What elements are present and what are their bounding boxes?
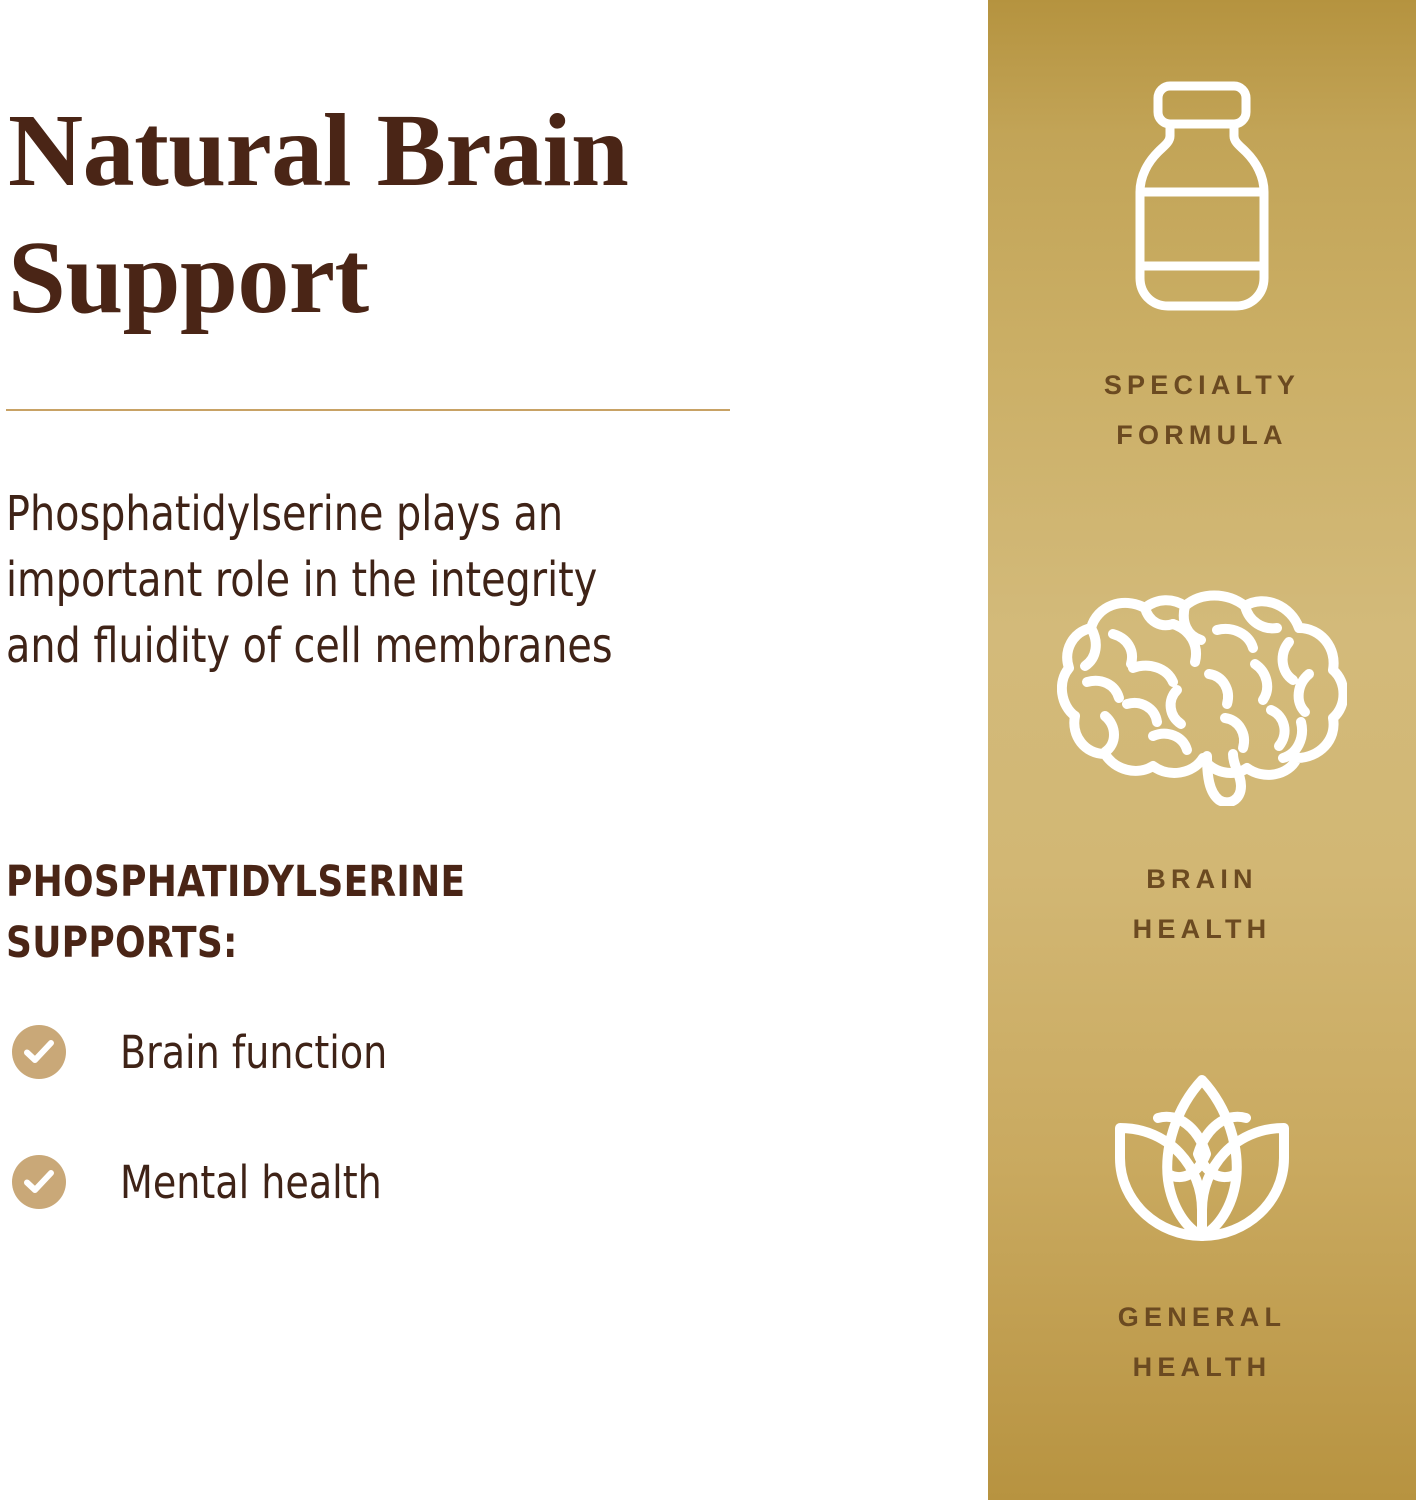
benefit-list: Brain function Mental health <box>12 1022 712 1282</box>
sidebar-feature-general-health: GENERAL HEALTH <box>988 1070 1416 1393</box>
benefit-label: Brain function <box>120 1030 387 1075</box>
benefit-label: Mental health <box>120 1160 382 1205</box>
list-item: Brain function <box>12 1022 712 1082</box>
check-circle-icon <box>12 1155 66 1209</box>
feature-label: BRAIN HEALTH <box>1133 855 1272 955</box>
product-benefits-infographic: Natural Brain Support Phosphatidylserine… <box>0 0 1416 1500</box>
intro-paragraph: Phosphatidylserine plays an important ro… <box>6 482 650 679</box>
check-circle-icon <box>12 1025 66 1079</box>
sidebar-feature-brain-health: BRAIN HEALTH <box>988 586 1416 955</box>
feature-label: GENERAL HEALTH <box>1118 1293 1286 1393</box>
title-divider <box>6 409 730 411</box>
page-title: Natural Brain Support <box>8 88 868 342</box>
lotus-flower-icon <box>1086 1070 1318 1249</box>
feature-label: SPECIALTY FORMULA <box>1104 361 1300 461</box>
supplement-bottle-icon <box>1114 80 1290 317</box>
feature-sidebar: SPECIALTY FORMULA <box>988 0 1416 1500</box>
content-column: Natural Brain Support Phosphatidylserine… <box>0 0 988 1500</box>
sidebar-feature-specialty-formula: SPECIALTY FORMULA <box>988 80 1416 461</box>
supports-heading: PHOSPHATIDYLSERINE SUPPORTS: <box>6 852 676 974</box>
list-item: Mental health <box>12 1152 712 1212</box>
brain-icon <box>1057 586 1347 811</box>
